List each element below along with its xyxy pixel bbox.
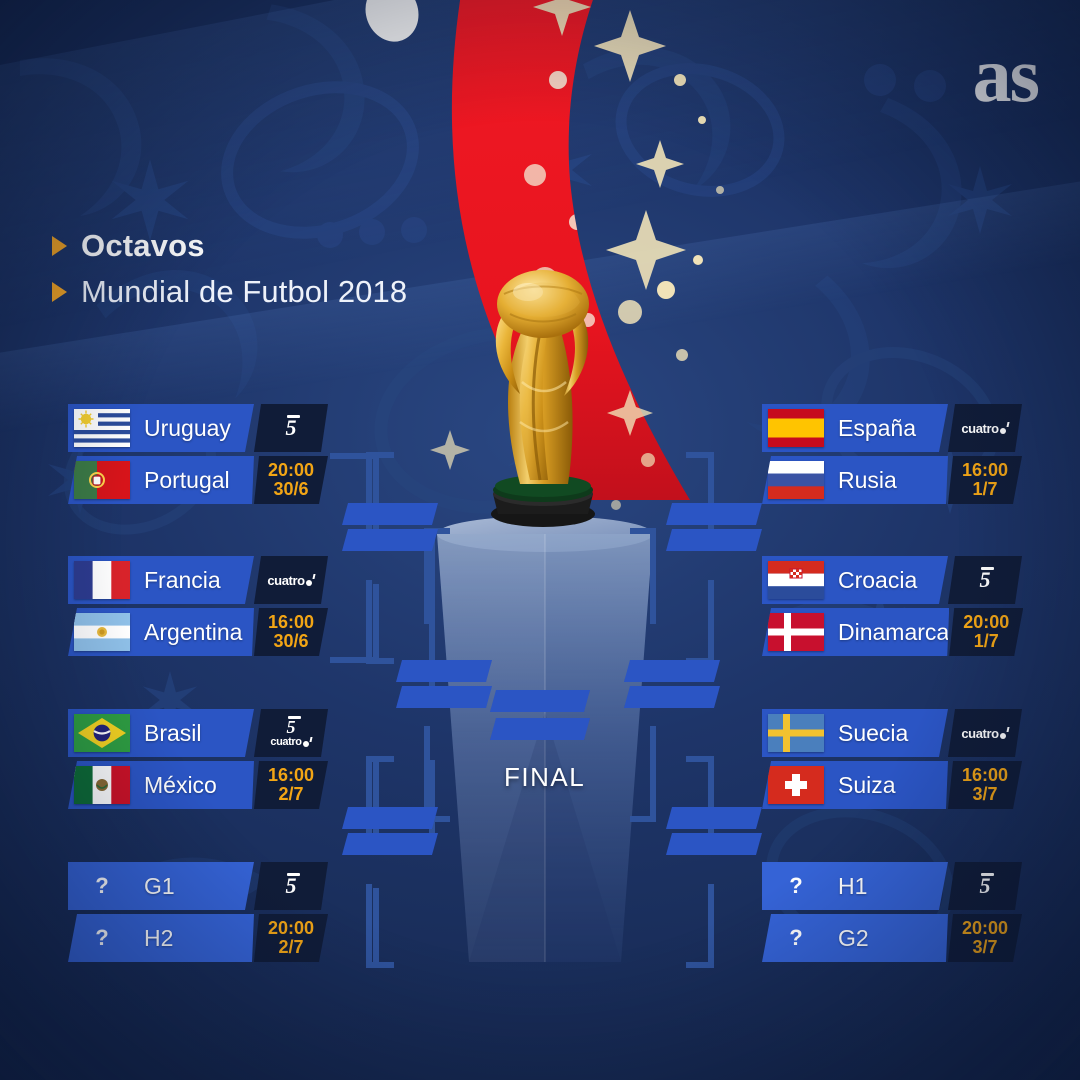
bracket-tick-right-4 — [708, 884, 714, 968]
match-g1-h2[interactable]: ? G1 5 ? H2 20:00 2/7 — [68, 862, 328, 966]
final-label: FINAL — [504, 762, 585, 793]
final-slot-b[interactable] — [490, 718, 590, 740]
match-date: 2/7 — [278, 938, 303, 957]
match-date: 30/6 — [273, 480, 308, 499]
channel-box: cuatro — [948, 404, 1022, 452]
match-time: 16:00 — [962, 766, 1008, 785]
team-bar[interactable]: Francia — [68, 556, 254, 604]
bracket-tick-right-1b — [686, 452, 714, 458]
bracket-tick-right-sf-2b — [630, 816, 656, 822]
qf-slot-right-2a[interactable] — [666, 807, 762, 829]
team-bar[interactable]: ? G1 — [68, 862, 254, 910]
match-time: 16:00 — [268, 613, 314, 632]
match-row-team[interactable]: ? G2 20:00 3/7 — [762, 914, 1022, 962]
team-bar[interactable]: Suecia — [762, 709, 948, 757]
espana-flag — [768, 409, 824, 447]
time-box: 16:00 30/6 — [254, 608, 328, 656]
team-bar[interactable]: Rusia — [762, 456, 948, 504]
channel-logos: 5 — [980, 569, 991, 591]
match-row-team[interactable]: ? H2 20:00 2/7 — [68, 914, 328, 962]
time-box: 20:00 1/7 — [949, 608, 1023, 656]
match-date: 3/7 — [972, 785, 997, 804]
team-bar[interactable]: ? H1 — [762, 862, 948, 910]
match-time: 20:00 — [268, 461, 314, 480]
channel-logos: 5 cuatro — [270, 718, 311, 748]
match-row-team[interactable]: Croacia 5 — [762, 556, 1022, 604]
channel-logos: cuatro — [267, 574, 314, 587]
telecinco-icon: 5 — [287, 718, 296, 736]
team-name: G2 — [838, 925, 869, 952]
match-time: 16:00 — [962, 461, 1008, 480]
team-bar[interactable]: Croacia — [762, 556, 948, 604]
match-date: 30/6 — [273, 632, 308, 651]
match-row-team[interactable]: Portugal 20:00 30/6 — [68, 456, 328, 504]
bracket-tick-left-1b — [366, 452, 394, 458]
uruguay-flag — [74, 409, 130, 447]
match-row-team[interactable]: Suiza 16:00 3/7 — [762, 761, 1022, 809]
time-box: 20:00 3/7 — [948, 914, 1022, 962]
sf-slot-left-b[interactable] — [396, 686, 492, 708]
team-name: H1 — [838, 873, 867, 900]
time-box: 16:00 1/7 — [948, 456, 1022, 504]
mexico-flag — [74, 766, 130, 804]
team-name: Croacia — [838, 567, 917, 594]
match-row-team[interactable]: ? G1 5 — [68, 862, 328, 910]
bracket-tick-left-3b — [366, 756, 394, 762]
match-francia-argentina[interactable]: Francia cuatro Argent — [68, 556, 328, 660]
bracket-infographic: Octavos Mundial de Futbol 2018 as — [0, 0, 1080, 1080]
channel-box: 5 — [948, 556, 1022, 604]
team-bar[interactable]: Suiza — [762, 761, 948, 809]
match-row-team[interactable]: Rusia 16:00 1/7 — [762, 456, 1022, 504]
team-bar[interactable]: México — [68, 761, 254, 809]
time-box: 16:00 2/7 — [254, 761, 328, 809]
bracket-tick-right-3b — [686, 756, 714, 762]
match-row-team[interactable]: Suecia cuatro — [762, 709, 1022, 757]
match-row-team[interactable]: Uruguay 5 — [68, 404, 328, 452]
bracket-tick-left-2b — [366, 658, 394, 664]
channel-logos: 5 — [980, 875, 991, 897]
team-name: G1 — [144, 873, 175, 900]
sf-slot-right-a[interactable] — [624, 660, 720, 682]
rusia-flag — [768, 461, 824, 499]
argentina-flag — [74, 613, 130, 651]
cuatro-icon: cuatro — [961, 422, 1008, 435]
channel-logos: cuatro — [961, 422, 1008, 435]
match-date: 2/7 — [278, 785, 303, 804]
match-time: 20:00 — [962, 919, 1008, 938]
qf-slot-left-2a[interactable] — [342, 807, 438, 829]
match-date: 3/7 — [972, 938, 997, 957]
match-row-team[interactable]: ? H1 5 — [762, 862, 1022, 910]
bracket-tick-left-4 — [366, 884, 372, 968]
match-uruguay-portugal[interactable]: Uruguay 5 Portugal — [68, 404, 328, 508]
bracket-tick-left-4b — [366, 962, 394, 968]
time-box: 20:00 30/6 — [254, 456, 328, 504]
qf-slot-right-1a[interactable] — [666, 503, 762, 525]
match-row-team[interactable]: México 16:00 2/7 — [68, 761, 328, 809]
suiza-flag — [768, 766, 824, 804]
team-name: España — [838, 415, 916, 442]
telecinco-icon: 5 — [980, 875, 991, 897]
croacia-flag — [768, 561, 824, 599]
bracket-tick-right-sf-1b — [630, 528, 656, 534]
team-bar[interactable]: Portugal — [68, 456, 254, 504]
team-name: Brasil — [144, 720, 202, 747]
match-row-team[interactable]: Francia cuatro — [68, 556, 328, 604]
team-name: México — [144, 772, 217, 799]
team-bar[interactable]: Uruguay — [68, 404, 254, 452]
sf-slot-right-b[interactable] — [624, 686, 720, 708]
team-bar[interactable]: ? G2 — [762, 914, 948, 962]
team-bar[interactable]: España — [762, 404, 948, 452]
qf-slot-left-1b[interactable] — [342, 529, 438, 551]
telecinco-icon: 5 — [980, 569, 991, 591]
bracket-tick-right-sf-1 — [650, 528, 656, 624]
channel-box: cuatro — [254, 556, 328, 604]
match-croacia-dinamarca[interactable]: Croacia 5 Dinamarca 20:00 — [762, 556, 1022, 660]
dinamarca-flag — [768, 613, 824, 651]
qf-slot-right-1b[interactable] — [666, 529, 762, 551]
final-slot-a[interactable] — [490, 690, 590, 712]
channel-box: cuatro — [948, 709, 1022, 757]
team-bar[interactable]: ? H2 — [68, 914, 254, 962]
time-box: 20:00 2/7 — [254, 914, 328, 962]
channel-box: 5 cuatro — [254, 709, 328, 757]
channel-box: 5 — [948, 862, 1022, 910]
channel-logos: cuatro — [961, 727, 1008, 740]
cuatro-icon: cuatro — [267, 574, 314, 587]
team-name: Portugal — [144, 467, 230, 494]
match-date: 1/7 — [972, 480, 997, 499]
team-name: Rusia — [838, 467, 897, 494]
telecinco-icon: 5 — [286, 875, 297, 897]
qf-slot-left-1a[interactable] — [342, 503, 438, 525]
channel-box: 5 — [254, 404, 328, 452]
match-time: 16:00 — [268, 766, 314, 785]
channel-logos: 5 — [286, 417, 297, 439]
suecia-flag — [768, 714, 824, 752]
question-mark-icon: ? — [74, 873, 130, 899]
match-row-team[interactable]: Dinamarca 20:00 1/7 — [762, 608, 1022, 656]
match-time: 20:00 — [963, 613, 1009, 632]
question-mark-icon: ? — [768, 925, 824, 951]
match-suecia-suiza[interactable]: Suecia cuatro Suiza 16:00 — [762, 709, 1022, 813]
match-h1-g2[interactable]: ? H1 5 ? G2 20:00 3/7 — [762, 862, 1022, 966]
team-name: Suiza — [838, 772, 896, 799]
bracket-tick-left-2 — [366, 580, 372, 664]
qf-slot-right-2b[interactable] — [666, 833, 762, 855]
question-mark-icon: ? — [768, 873, 824, 899]
match-brasil-mexico[interactable]: Brasil 5 cuatro — [68, 709, 328, 813]
question-mark-icon: ? — [74, 925, 130, 951]
team-name: H2 — [144, 925, 173, 952]
team-name: Dinamarca — [838, 619, 949, 646]
team-name: Argentina — [144, 619, 242, 646]
qf-slot-left-2b[interactable] — [342, 833, 438, 855]
channel-logos: 5 — [286, 875, 297, 897]
bracket-tick-right-sf-2 — [650, 726, 656, 822]
team-bar[interactable]: Brasil — [68, 709, 254, 757]
match-espana-rusia[interactable]: España cuatro Rusia 16:00 — [762, 404, 1022, 508]
portugal-flag — [74, 461, 130, 499]
francia-flag — [74, 561, 130, 599]
telecinco-icon: 5 — [286, 417, 297, 439]
team-bar[interactable]: Dinamarca — [762, 608, 949, 656]
team-bar[interactable]: Argentina — [68, 608, 254, 656]
team-name: Francia — [144, 567, 221, 594]
time-box: 16:00 3/7 — [948, 761, 1022, 809]
cuatro-icon: cuatro — [270, 737, 311, 748]
match-date: 1/7 — [974, 632, 999, 651]
cuatro-icon: cuatro — [961, 727, 1008, 740]
sf-slot-left-a[interactable] — [396, 660, 492, 682]
bracket-tick-right-2 — [708, 580, 714, 664]
team-name: Uruguay — [144, 415, 231, 442]
team-name: Suecia — [838, 720, 908, 747]
channel-box: 5 — [254, 862, 328, 910]
match-row-team[interactable]: Argentina 16:00 30/6 — [68, 608, 328, 656]
match-row-team[interactable]: Brasil 5 cuatro — [68, 709, 328, 757]
bracket-tick-right-4b — [686, 962, 714, 968]
match-time: 20:00 — [268, 919, 314, 938]
match-row-team[interactable]: España cuatro — [762, 404, 1022, 452]
brasil-flag — [74, 714, 130, 752]
